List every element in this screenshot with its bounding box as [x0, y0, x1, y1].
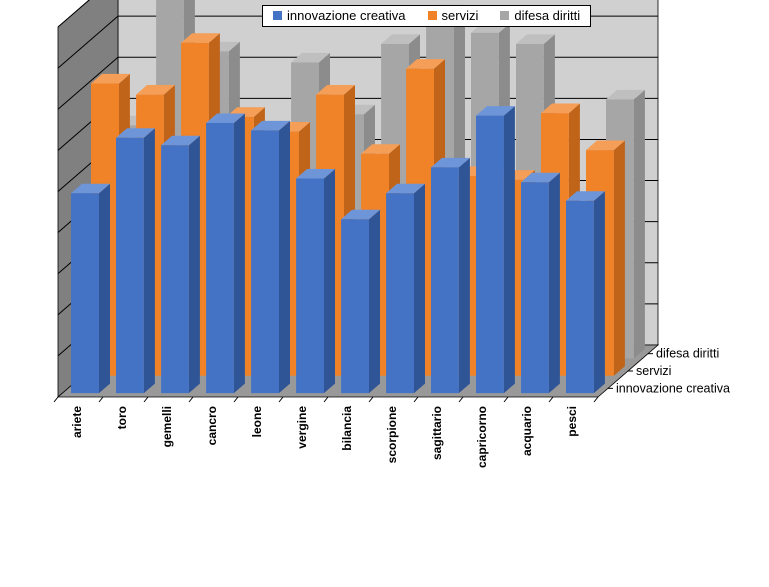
- x-axis-label: scorpione: [385, 406, 399, 464]
- bar-toro-0-front: [116, 138, 144, 393]
- bar-capricorno-0-side: [504, 106, 515, 393]
- axis-tick: [234, 397, 238, 402]
- legend-item-servizi[interactable]: servizi: [428, 9, 479, 22]
- bar-toro-0-side: [144, 128, 155, 393]
- axis-tick: [189, 397, 193, 402]
- depth-axis-label: servizi: [636, 364, 671, 378]
- axis-tick: [99, 397, 103, 402]
- bar-gemelli-0-side: [189, 136, 200, 393]
- legend-item-difesa-diritti[interactable]: difesa diritti: [500, 9, 580, 22]
- bar-pesci-1-side: [614, 141, 625, 376]
- legend-label: difesa diritti: [514, 9, 580, 22]
- bar-chart-3d: arietetorogemellicancroleoneverginebilan…: [0, 0, 769, 587]
- chart-legend: innovazione creativa servizi difesa diri…: [262, 5, 591, 27]
- x-axis-label: vergine: [295, 406, 309, 449]
- bar-sagittario-0-side: [459, 158, 470, 393]
- x-axis-label: cancro: [205, 406, 219, 445]
- x-axis-label: capricorno: [475, 406, 489, 468]
- axis-tick: [414, 397, 418, 402]
- bar-scorpione-0-side: [414, 184, 425, 393]
- x-axis-label: ariete: [70, 406, 84, 438]
- x-axis-label: gemelli: [160, 406, 174, 447]
- bar-acquario-0-side: [549, 173, 560, 393]
- axis-tick: [324, 397, 328, 402]
- axis-tick: [549, 397, 553, 402]
- bar-sagittario-0-front: [431, 167, 459, 393]
- bar-gemelli-0-front: [161, 145, 189, 393]
- legend-item-innovazione-creativa[interactable]: innovazione creativa: [273, 9, 406, 22]
- legend-label: servizi: [442, 9, 479, 22]
- bar-acquario-0-front: [521, 182, 549, 393]
- axis-tick: [279, 397, 283, 402]
- axis-tick: [594, 397, 598, 402]
- axis-tick: [54, 397, 58, 402]
- bar-ariete-0-side: [99, 184, 110, 393]
- bar-pesci-0-side: [594, 191, 605, 393]
- bar-scorpione-0-front: [386, 193, 414, 393]
- axis-tick: [504, 397, 508, 402]
- square-swatch-icon: [500, 11, 509, 20]
- x-axis-label: toro: [115, 406, 129, 429]
- bar-cancro-0-front: [206, 123, 234, 393]
- depth-axis-label: innovazione creativa: [616, 381, 730, 395]
- square-swatch-icon: [428, 11, 437, 20]
- bar-leone-0-front: [251, 130, 279, 393]
- x-axis-label: leone: [250, 406, 264, 438]
- bar-ariete-0-front: [71, 193, 99, 393]
- chart-root: arietetorogemellicancroleoneverginebilan…: [0, 0, 769, 587]
- axis-tick: [369, 397, 373, 402]
- bar-bilancia-0-side: [369, 210, 380, 393]
- bar-pesci-0-front: [566, 201, 594, 393]
- bar-vergine-0-side: [324, 169, 335, 393]
- bar-bilancia-0-front: [341, 219, 369, 393]
- bar-pesci-2-side: [634, 90, 645, 359]
- legend-label: innovazione creativa: [287, 9, 406, 22]
- bar-cancro-0-side: [234, 114, 245, 394]
- bar-leone-0-side: [279, 121, 290, 393]
- x-axis-label: sagittario: [430, 406, 444, 460]
- square-swatch-icon: [273, 11, 282, 20]
- bar-vergine-0-front: [296, 179, 324, 394]
- x-axis-label: acquario: [520, 406, 534, 456]
- axis-tick: [459, 397, 463, 402]
- bar-capricorno-0-front: [476, 116, 504, 394]
- depth-axis-label: difesa diritti: [656, 347, 719, 361]
- axis-tick: [144, 397, 148, 402]
- x-axis-label: pesci: [565, 406, 579, 437]
- x-axis-label: bilancia: [340, 406, 354, 451]
